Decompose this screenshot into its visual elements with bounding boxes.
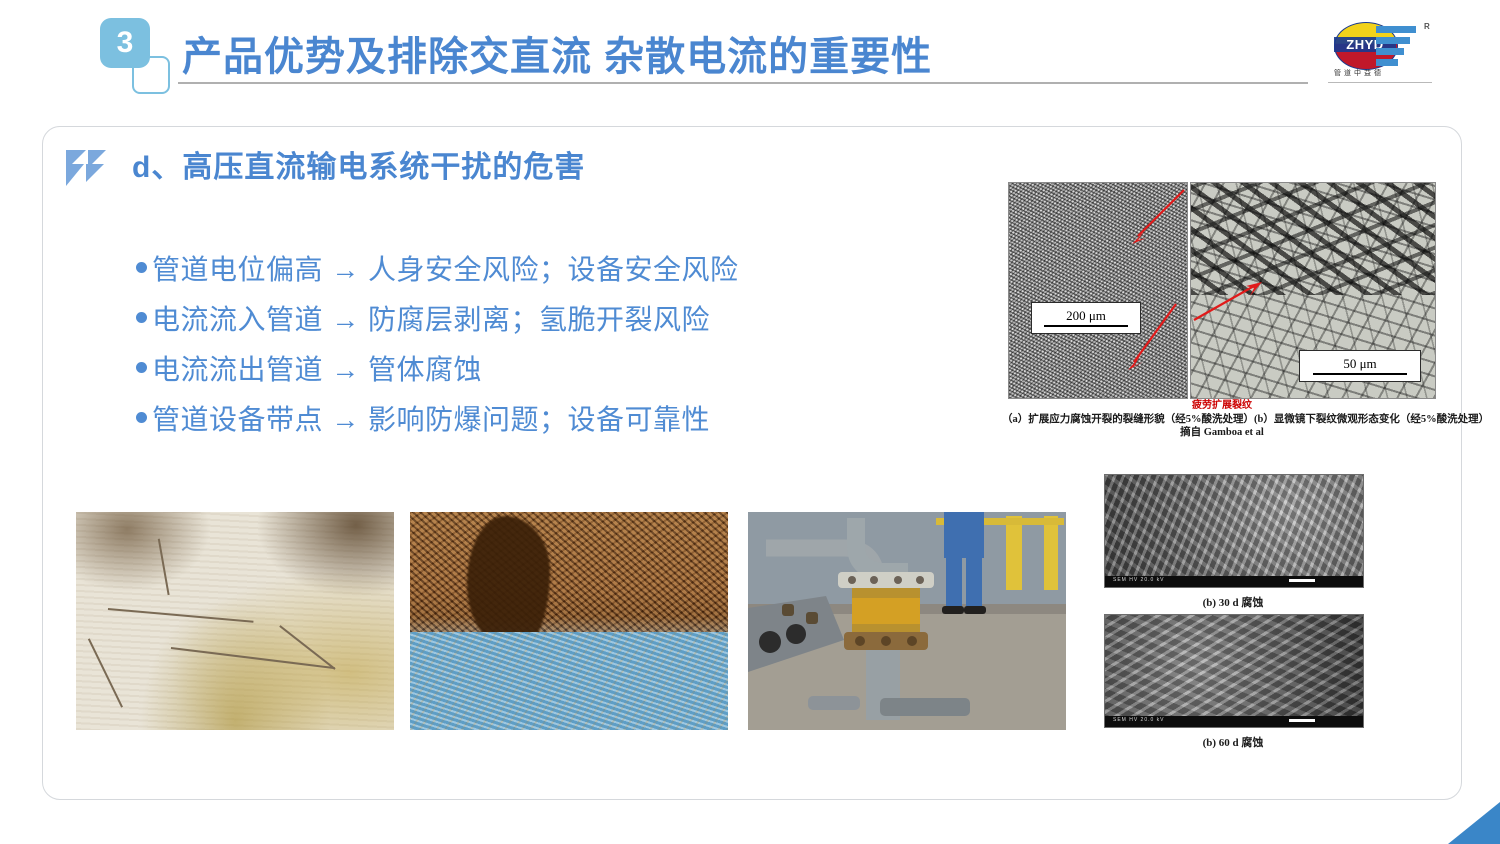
- photo-rusted-blue-painted-steel: [410, 512, 728, 730]
- sem-scalebar-tick: [1289, 579, 1315, 582]
- scalebar-line: [1044, 325, 1128, 327]
- sem-caption: (b) 60 d 腐蚀: [1104, 734, 1362, 750]
- pipe-flange-illustration: [748, 512, 1066, 730]
- photo-corroded-pipe-flange-field: [748, 512, 1066, 730]
- bullet-list: 管道电位偏高 → 人身安全风险；设备安全风险 电流流入管道 → 防腐层剥离；氢脆…: [136, 256, 896, 456]
- photo-weathered-painted-wall: [76, 512, 394, 730]
- page-title: 产品优势及排除交直流 杂散电流的重要性: [182, 24, 932, 82]
- bullet-text: 管道设备带点 → 影响防爆问题；设备可靠性: [152, 406, 710, 434]
- red-arrow-icon: [1120, 302, 1184, 374]
- sem-scalebar-tick: [1289, 719, 1315, 722]
- bullet-text: 电流流入管道 → 防腐层剥离；氢脆开裂风险: [152, 306, 710, 334]
- list-item: 电流流出管道 → 管体腐蚀: [136, 356, 896, 384]
- list-item: 管道电位偏高 → 人身安全风险；设备安全风险: [136, 256, 896, 284]
- list-item: 管道设备带点 → 影响防爆问题；设备可靠性: [136, 406, 896, 434]
- sem-infobar-text: SEM HV 20.0 kV: [1113, 577, 1165, 583]
- section-subtitle: d、高压直流输电系统干扰的危害: [132, 142, 585, 186]
- bullet-dot-icon: [136, 362, 147, 373]
- logo-mark-icon: ZHYD: [1332, 20, 1404, 70]
- sem-infobar: SEM HV 20.0 kV: [1105, 716, 1363, 727]
- bullet-dot-icon: [136, 412, 147, 423]
- micrograph-caption: 疲劳扩展裂纹 （a）扩展应力腐蚀开裂的裂缝形貌（经5%酸洗处理）(b）显微镜下裂…: [1002, 400, 1442, 441]
- logo-underline-rule: [1328, 82, 1432, 83]
- blue-paint-layer: [410, 632, 728, 730]
- list-item: 电流流入管道 → 防腐层剥离；氢脆开裂风险: [136, 306, 896, 334]
- red-arrow-icon: [1192, 280, 1272, 324]
- caption-red-annotation: 疲劳扩展裂纹: [1002, 400, 1442, 413]
- sem-image: SEM HV 20.0 kV: [1104, 474, 1364, 588]
- logo-chinese-name: 管道中益德: [1334, 68, 1408, 78]
- scalebar-label: 50 μm: [1343, 357, 1376, 371]
- sem-image: SEM HV 20.0 kV: [1104, 614, 1364, 728]
- rust-texture: [410, 512, 728, 632]
- slide-header: 3 产品优势及排除交直流 杂散电流的重要性 ZHYD R 管道中益德: [0, 0, 1500, 108]
- caption-line-2: 摘自 Gamboa et al: [1002, 426, 1442, 441]
- sem-figure-60d: SEM HV 20.0 kV (b) 60 d 腐蚀: [1104, 614, 1362, 750]
- bullet-text: 电流流出管道 → 管体腐蚀: [152, 356, 482, 384]
- scalebar-50um: 50 μm: [1299, 350, 1421, 382]
- sem-infobar-text: SEM HV 20.0 kV: [1113, 717, 1165, 723]
- micrograph-figure: 200 μm 50 μm: [1008, 182, 1434, 450]
- section-number-outline-square: [132, 56, 170, 94]
- red-arrow-icon: [1126, 188, 1190, 248]
- bullet-dot-icon: [136, 312, 147, 323]
- micrograph-image-row: 200 μm 50 μm: [1008, 182, 1434, 397]
- company-logo: ZHYD R 管道中益德: [1332, 18, 1442, 84]
- logo-stripes-icon: [1376, 24, 1416, 66]
- sem-caption: (b) 30 d 腐蚀: [1104, 594, 1362, 610]
- sem-infobar: SEM HV 20.0 kV: [1105, 576, 1363, 587]
- scalebar-label: 200 μm: [1066, 309, 1106, 323]
- bullet-text: 管道电位偏高 → 人身安全风险；设备安全风险: [152, 256, 739, 284]
- title-underline-rule: [178, 82, 1308, 84]
- scalebar-line: [1313, 373, 1407, 375]
- registered-trademark-icon: R: [1424, 22, 1430, 31]
- corner-triangle-decoration: [1448, 802, 1500, 844]
- bullet-dot-icon: [136, 262, 147, 273]
- sem-figure-30d: SEM HV 20.0 kV (b) 30 d 腐蚀: [1104, 474, 1362, 610]
- section-number-badge: 3: [100, 18, 170, 90]
- caption-line-1: （a）扩展应力腐蚀开裂的裂缝形貌（经5%酸洗处理）(b）显微镜下裂纹微观形态变化…: [1002, 413, 1442, 427]
- flag-bullet-icon: [64, 148, 108, 188]
- slide: 3 产品优势及排除交直流 杂散电流的重要性 ZHYD R 管道中益德: [0, 0, 1500, 844]
